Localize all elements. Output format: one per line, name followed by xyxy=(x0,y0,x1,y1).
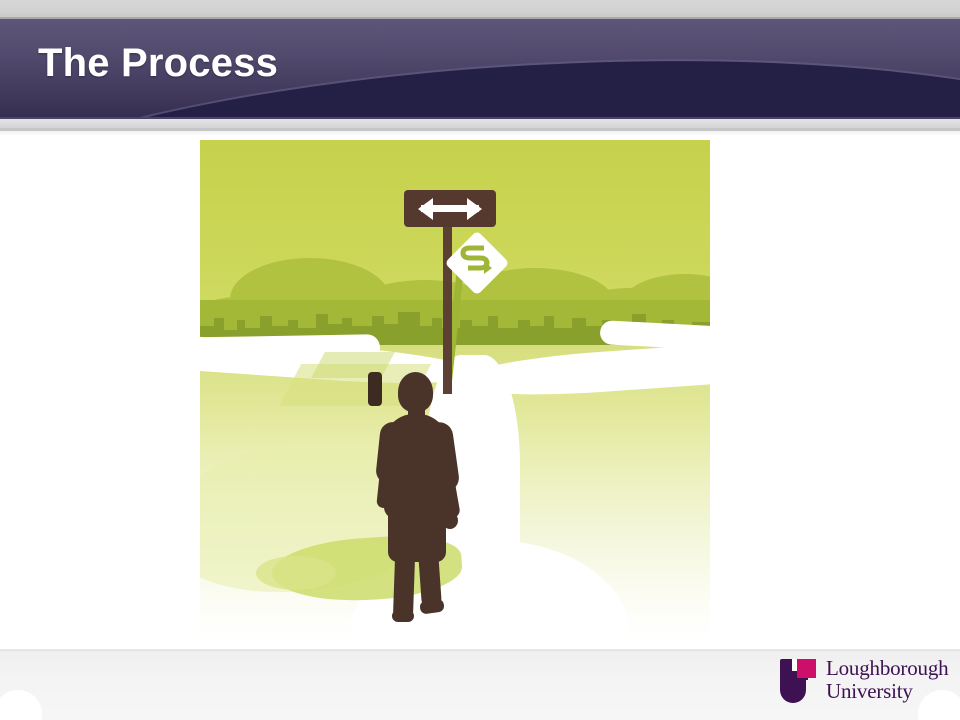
winding-road-icon xyxy=(454,240,500,286)
university-name-line1: Loughborough xyxy=(826,657,952,680)
figure-foot-left xyxy=(392,610,414,622)
winding-road-sign xyxy=(444,230,509,295)
magenta-square-icon xyxy=(797,659,816,678)
arrow-right-icon xyxy=(467,198,482,220)
walking-person-silhouette xyxy=(368,372,464,620)
figure-shadow-head xyxy=(256,556,336,590)
figure-shorts-detail xyxy=(368,372,382,406)
page-title: The Process xyxy=(38,40,278,86)
university-shield-icon xyxy=(780,659,820,703)
slide-top-strip xyxy=(0,0,960,18)
university-name-line2: University xyxy=(826,680,952,703)
university-wordmark: Loughborough University xyxy=(826,657,952,703)
arrow-left-icon xyxy=(418,198,433,220)
banner-separator-upper xyxy=(0,119,960,128)
loughborough-university-logo: Loughborough University xyxy=(780,657,950,707)
figure-foot-right xyxy=(419,598,445,614)
figure-torso xyxy=(384,414,448,519)
fork-in-the-road-illustration xyxy=(200,140,710,640)
slide-content-area xyxy=(0,136,960,650)
figure-head xyxy=(398,372,433,412)
signpost-pole xyxy=(443,212,452,394)
two-way-direction-sign xyxy=(404,190,496,227)
presentation-slide: The Process xyxy=(0,0,960,720)
